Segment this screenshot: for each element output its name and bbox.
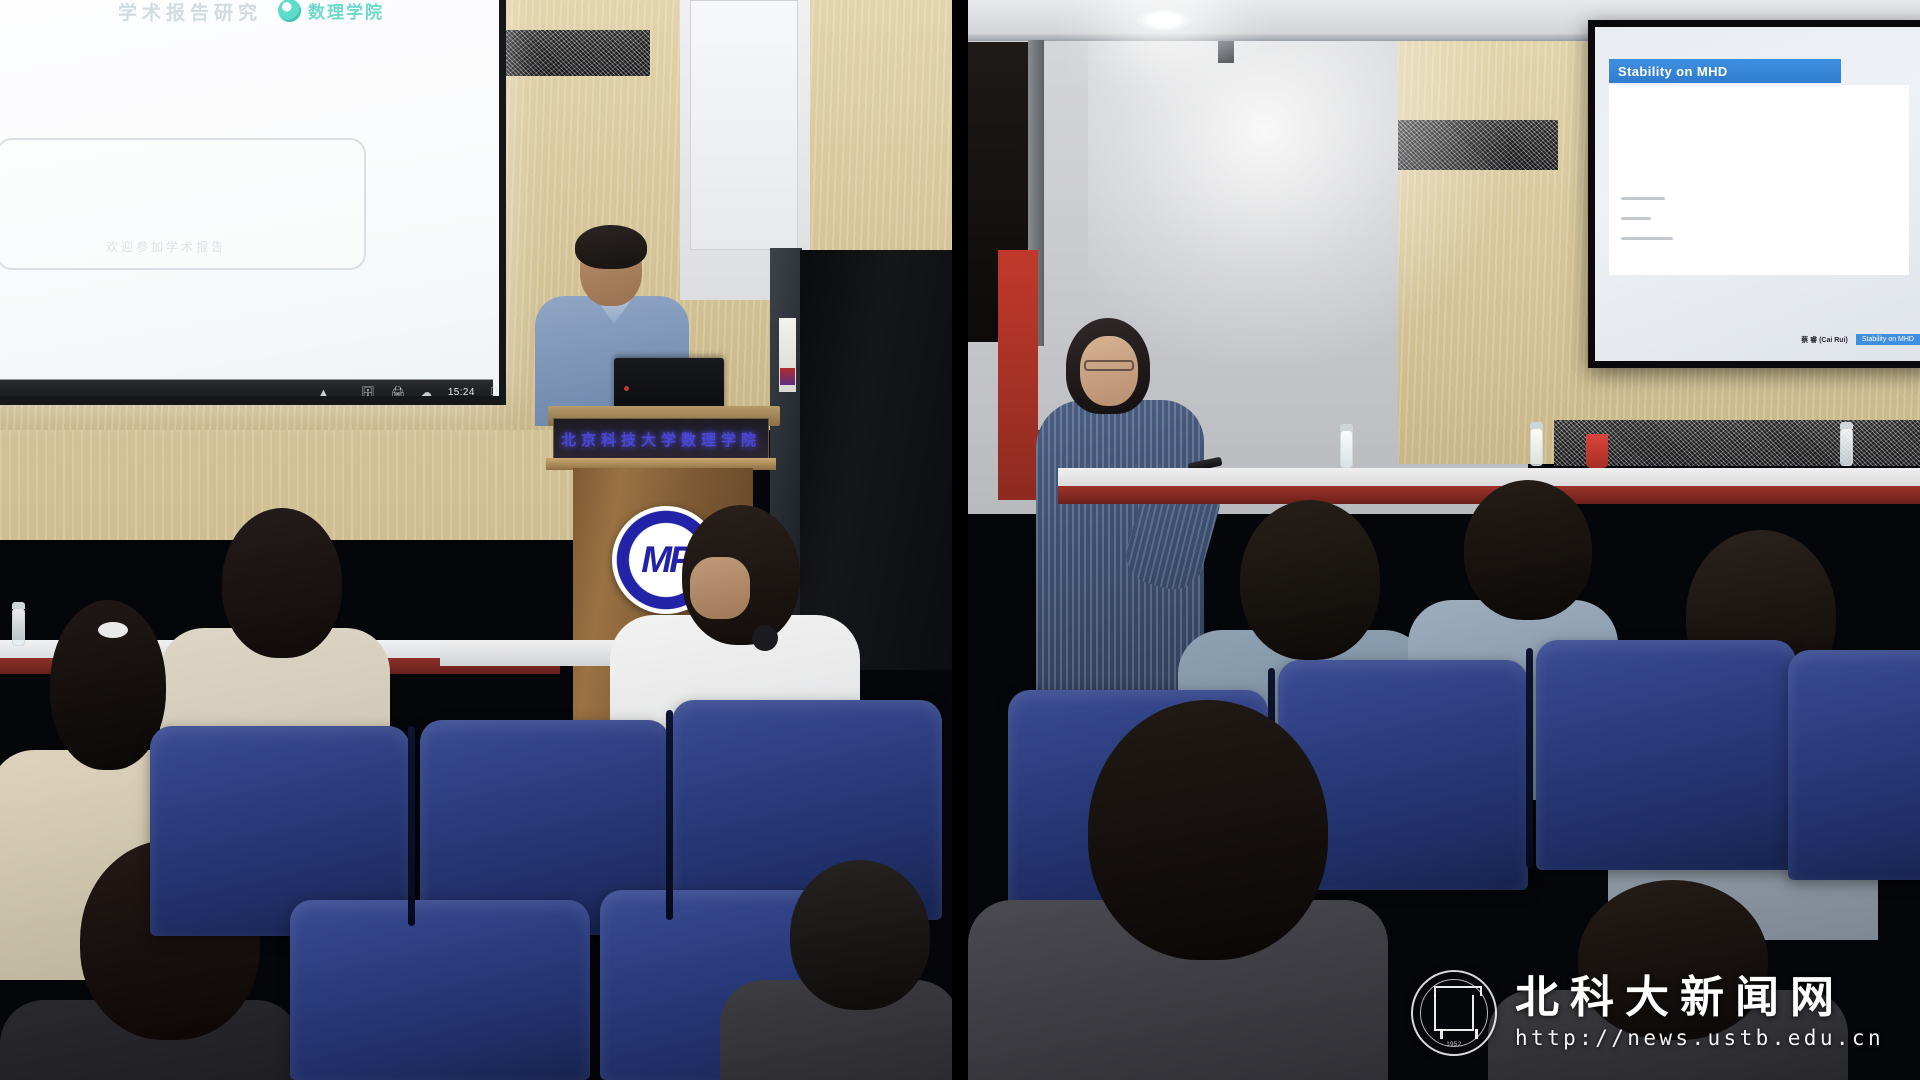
ceiling-rail (968, 34, 1688, 41)
left-photo: 学术报告研究 数理学院 欢迎参加学术报告 ▲ 🗄 🖨 ☁ 15:24 ⎕ (0, 0, 952, 1080)
water-bottle (1840, 428, 1853, 466)
slide-text-line (1621, 237, 1673, 240)
left-whiteboard (690, 0, 798, 250)
left-av-cabinet (800, 250, 952, 670)
slide-footer-chip: Stability on MHD (1856, 334, 1920, 345)
podium-sign-text: 北京科技大学数理学院 (561, 429, 761, 450)
seat-divider (666, 710, 673, 920)
right-granite-band-lower (1554, 420, 1920, 466)
auditorium-seat (1788, 650, 1920, 880)
photo-composite: 学术报告研究 数理学院 欢迎参加学术报告 ▲ 🗄 🖨 ☁ 15:24 ⎕ (0, 0, 1920, 1080)
slide-text-line (1621, 217, 1651, 220)
panel-divider (952, 0, 968, 1080)
left-laptop (614, 358, 724, 412)
left-speaker-hair (575, 225, 647, 269)
red-cup (1586, 434, 1608, 468)
laptop-indicator-icon (624, 386, 629, 391)
rail-mount (1218, 41, 1234, 63)
water-bottle (12, 608, 25, 646)
right-screen-frame: Stability on MHD 蔡 睿 (Cai Rui) Stability… (1588, 20, 1920, 368)
red-wall-panel (998, 250, 1038, 500)
auditorium-seat (1536, 640, 1796, 870)
slide-title-bar: Stability on MHD (1609, 59, 1841, 83)
slide-author-text: 蔡 睿 (Cai Rui) (1801, 335, 1848, 345)
left-screen-frame (0, 0, 506, 405)
water-bottle (1340, 430, 1353, 468)
cabinet-sign-graphic (780, 368, 795, 385)
wall-light-glow (1088, 38, 1508, 368)
water-bottle-cap (12, 602, 25, 609)
eyeglasses-icon (1084, 360, 1134, 371)
auditorium-seat (290, 900, 590, 1080)
slide-body (1609, 85, 1909, 275)
right-speaker-face (1080, 336, 1138, 406)
water-bottle (1530, 428, 1543, 466)
right-photo: Stability on MHD 蔡 睿 (Cai Rui) Stability… (968, 0, 1920, 1080)
slide-text-line (1621, 197, 1665, 200)
slide-title-text: Stability on MHD (1618, 64, 1728, 79)
seat-divider (1526, 648, 1533, 868)
ceiling-light-icon (1136, 8, 1192, 32)
water-bottle-cap (1340, 424, 1353, 431)
right-projection-screen: Stability on MHD 蔡 睿 (Cai Rui) Stability… (1595, 27, 1920, 361)
water-bottle-cap (1530, 422, 1543, 429)
seat-divider (408, 726, 415, 926)
podium-sign-panel: 北京科技大学数理学院 (553, 418, 769, 460)
water-bottle-cap (1840, 422, 1853, 429)
slide-footer: 蔡 睿 (Cai Rui) Stability on MHD (1595, 334, 1920, 345)
